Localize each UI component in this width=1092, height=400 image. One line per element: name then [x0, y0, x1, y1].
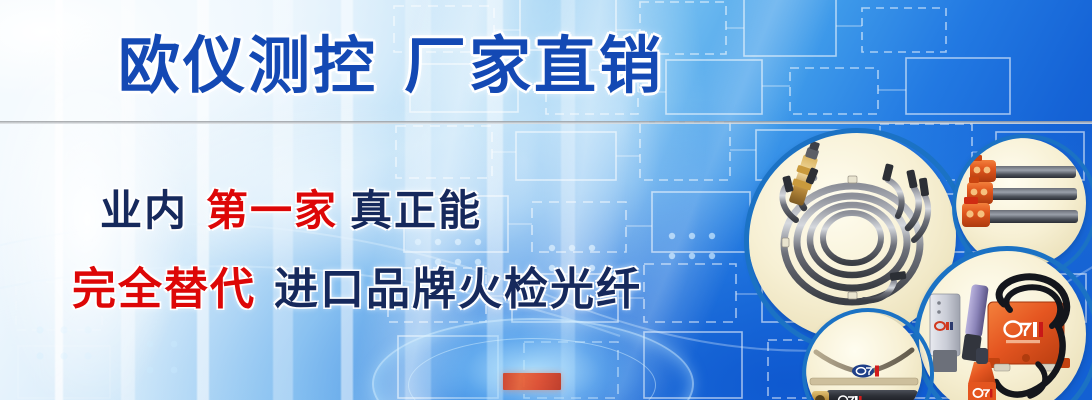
headline-part2: 厂家直销: [404, 32, 664, 101]
product-photo-flame-scanner: [918, 250, 1086, 400]
tagline1-seg3: 真正能: [350, 187, 482, 234]
flame-graphic: [503, 373, 561, 390]
tagline1-seg2: 第一家: [206, 187, 338, 234]
headline: 欧仪测控厂家直销: [118, 36, 664, 98]
tagline-line-2: 完全替代进口品牌火检光纤: [72, 268, 642, 312]
horizontal-divider-rule: [0, 121, 1092, 124]
tagline-line-1: 业内第一家真正能: [100, 190, 482, 232]
tagline1-seg1: 业内: [100, 187, 188, 234]
tagline2-seg2: 进口品牌火检光纤: [274, 265, 642, 314]
tagline2-seg1: 完全替代: [72, 265, 256, 314]
product-photo-probe-trio: [956, 138, 1086, 268]
headline-part1: 欧仪测控: [118, 32, 378, 101]
promotional-banner: 欧仪测控厂家直销 业内第一家真正能 完全替代进口品牌火检光纤: [0, 0, 1092, 400]
